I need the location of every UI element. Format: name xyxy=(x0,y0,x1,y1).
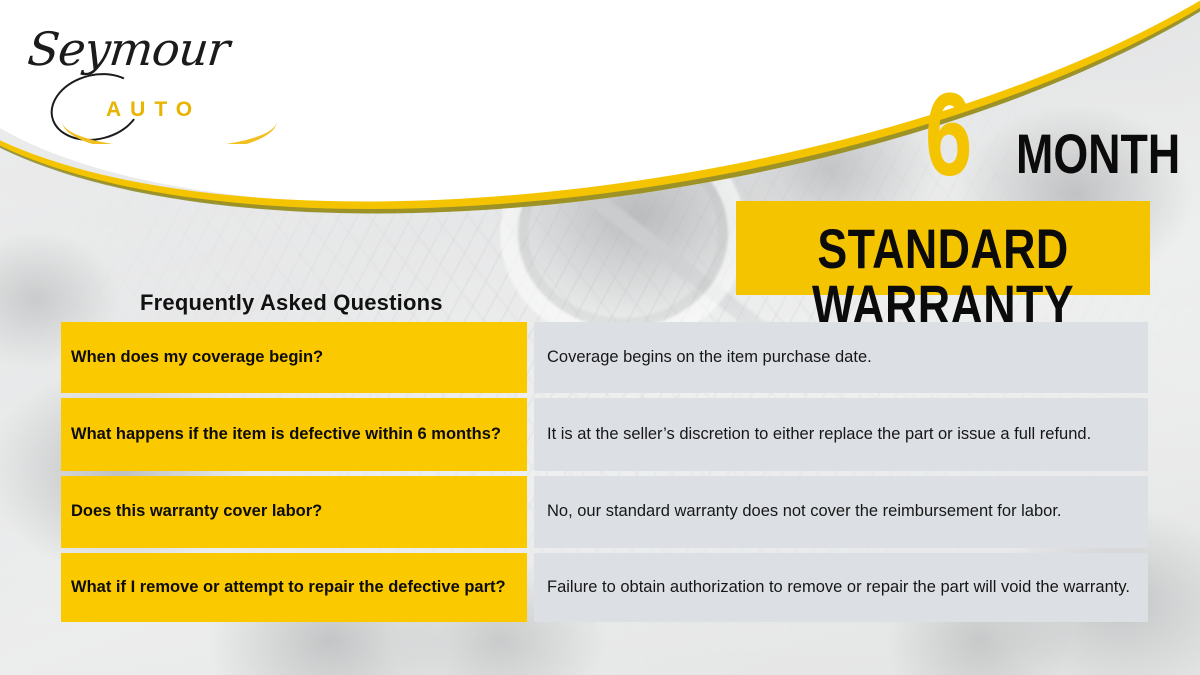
table-row: What happens if the item is defective wi… xyxy=(61,398,1148,471)
warranty-slide: Seymour AUTO 6 MONTH STANDARD WARRANTY F… xyxy=(0,0,1200,675)
column-gap xyxy=(527,476,534,548)
standard-warranty-label: STANDARD WARRANTY xyxy=(777,221,1108,333)
faq-question-cell: What happens if the item is defective wi… xyxy=(61,398,527,471)
seymour-auto-logo: Seymour AUTO xyxy=(22,18,252,128)
faq-question-text: What happens if the item is defective wi… xyxy=(71,424,501,445)
faq-heading: Frequently Asked Questions xyxy=(140,290,443,316)
faq-answer-text: Coverage begins on the item purchase dat… xyxy=(547,347,1136,369)
logo-swoosh-icon xyxy=(62,122,277,144)
duration-number: 6 xyxy=(925,76,971,194)
column-gap xyxy=(527,553,534,622)
table-row: Does this warranty cover labor? No, our … xyxy=(61,476,1148,548)
logo-sub-name: AUTO xyxy=(106,98,201,122)
faq-answer-cell: No, our standard warranty does not cover… xyxy=(534,476,1148,548)
table-row: What if I remove or attempt to repair th… xyxy=(61,553,1148,622)
faq-answer-text: It is at the seller’s discretion to eith… xyxy=(547,424,1136,446)
column-gap xyxy=(527,322,534,393)
faq-answer-cell: Coverage begins on the item purchase dat… xyxy=(534,322,1148,393)
faq-question-text: What if I remove or attempt to repair th… xyxy=(71,577,506,598)
faq-answer-text: No, our standard warranty does not cover… xyxy=(547,501,1136,523)
faq-question-cell: When does my coverage begin? xyxy=(61,322,527,393)
faq-question-text: When does my coverage begin? xyxy=(71,347,323,368)
faq-question-cell: Does this warranty cover labor? xyxy=(61,476,527,548)
column-gap xyxy=(527,398,534,471)
faq-question-cell: What if I remove or attempt to repair th… xyxy=(61,553,527,622)
duration-unit: MONTH xyxy=(1016,126,1180,182)
faq-answer-text: Failure to obtain authorization to remov… xyxy=(547,577,1136,599)
faq-question-text: Does this warranty cover labor? xyxy=(71,501,322,522)
faq-table: When does my coverage begin? Coverage be… xyxy=(61,322,1148,622)
faq-answer-cell: Failure to obtain authorization to remov… xyxy=(534,553,1148,622)
standard-warranty-banner: STANDARD WARRANTY xyxy=(736,201,1150,295)
faq-answer-cell: It is at the seller’s discretion to eith… xyxy=(534,398,1148,471)
table-row: When does my coverage begin? Coverage be… xyxy=(61,322,1148,393)
logo-script-name: Seymour xyxy=(25,22,231,76)
